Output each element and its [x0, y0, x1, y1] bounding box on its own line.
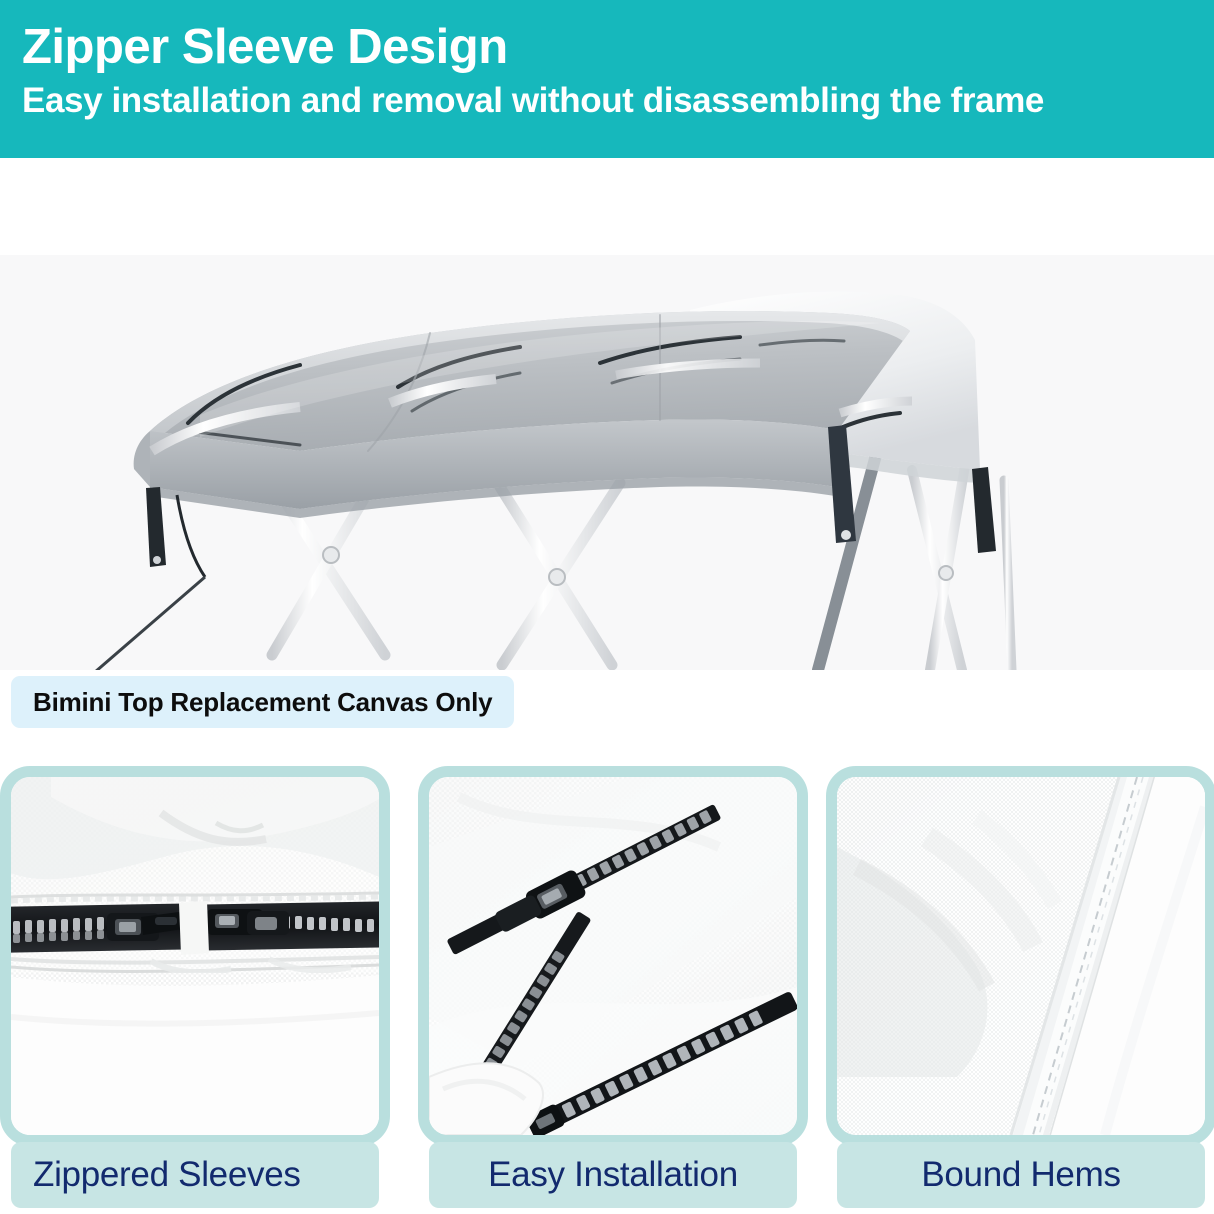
zippered-sleeves-photo [11, 777, 379, 1135]
panel-caption-bar: Bound Hems [837, 1142, 1205, 1208]
zipper-slider-right [207, 909, 289, 935]
bimini-top-illustration [0, 255, 1214, 670]
panel-photo-frame [826, 766, 1214, 1146]
badge-label: Bimini Top Replacement Canvas Only [33, 687, 492, 718]
panel-caption-label: Bound Hems [921, 1155, 1120, 1195]
page-title: Zipper Sleeve Design [22, 22, 1194, 73]
feature-panel-easy-installation[interactable]: Easy Installation [418, 766, 808, 1214]
panel-photo-frame [0, 766, 390, 1146]
panel-caption-label: Zippered Sleeves [33, 1155, 301, 1195]
panel-caption-label: Easy Installation [488, 1155, 738, 1195]
panel-caption-bar: Easy Installation [429, 1142, 797, 1208]
panel-caption-bar: Zippered Sleeves [11, 1142, 379, 1208]
page-subtitle: Easy installation and removal without di… [22, 82, 1194, 121]
hero-product-image [0, 255, 1214, 670]
feature-panel-zippered-sleeves[interactable]: Zippered Sleeves [0, 766, 390, 1214]
feature-panel-bound-hems[interactable]: Bound Hems [826, 766, 1214, 1214]
bound-hems-photo [837, 777, 1205, 1135]
panel-photo-frame [418, 766, 808, 1146]
header-banner: Zipper Sleeve Design Easy installation a… [0, 0, 1214, 158]
feature-panel-row: Zippered Sleeves [0, 766, 1214, 1214]
easy-installation-photo [429, 777, 797, 1135]
status-badge: Bimini Top Replacement Canvas Only [11, 676, 514, 728]
